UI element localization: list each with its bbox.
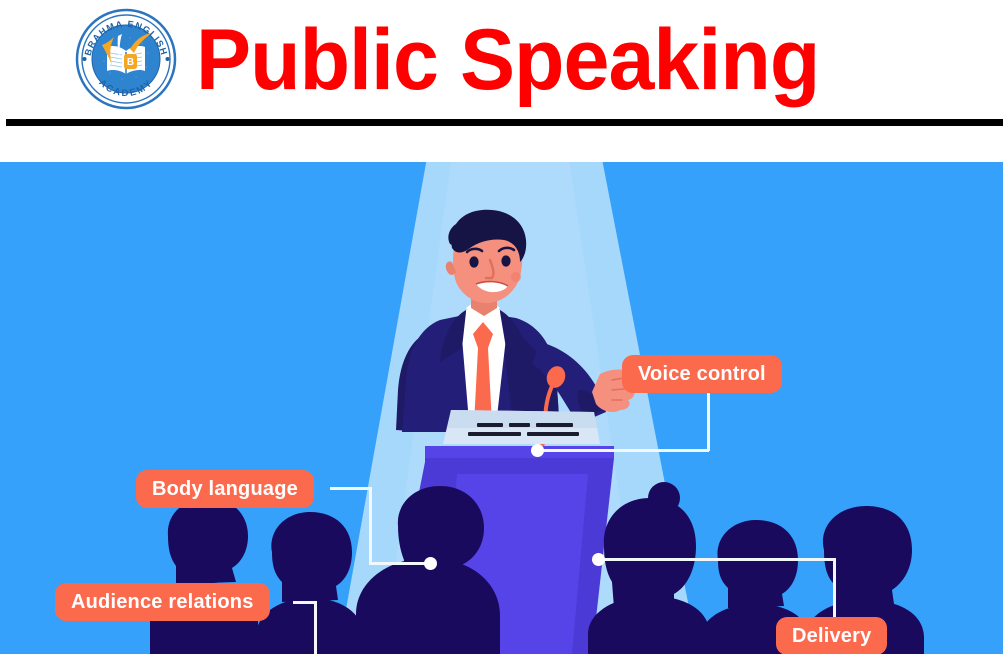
connector-audience-relations-vertical — [314, 601, 317, 654]
audience-person-3 — [356, 486, 500, 654]
connector-dot-body-language — [424, 557, 437, 570]
label-delivery[interactable]: Delivery — [776, 617, 887, 654]
connector-delivery-horizontal — [603, 558, 836, 561]
audience-person-1 — [150, 498, 258, 654]
label-audience-relations[interactable]: Audience relations — [55, 583, 270, 621]
connector-body-language-h2 — [369, 562, 429, 565]
connector-body-language-h1 — [330, 487, 372, 490]
connector-body-language-vertical — [369, 487, 372, 565]
label-voice-control[interactable]: Voice control — [622, 355, 782, 393]
audience-person-4 — [588, 482, 710, 654]
connector-dot-delivery — [592, 553, 605, 566]
brahma-english-academy-logo: B BRAHMA ENGLISH ACADEMY — [74, 7, 178, 111]
connector-voice-control-horizontal — [540, 449, 709, 452]
connector-delivery-vertical — [833, 558, 836, 618]
slide-page: B BRAHMA ENGLISH ACADEMY Public Speaking — [0, 0, 1003, 654]
page-title: Public Speaking — [196, 8, 926, 112]
label-body-language[interactable]: Body language — [136, 470, 314, 508]
connector-voice-control-vertical — [707, 393, 710, 451]
header-divider — [6, 119, 1003, 126]
public-speaking-illustration: Voice control Body language Audience rel… — [0, 162, 1003, 654]
logo-center-letter: B — [127, 57, 134, 68]
audience-person-2 — [256, 512, 364, 654]
speaker-figure — [396, 210, 644, 434]
page-header: B BRAHMA ENGLISH ACADEMY Public Speaking — [0, 0, 1003, 118]
connector-dot-voice-control — [531, 444, 544, 457]
